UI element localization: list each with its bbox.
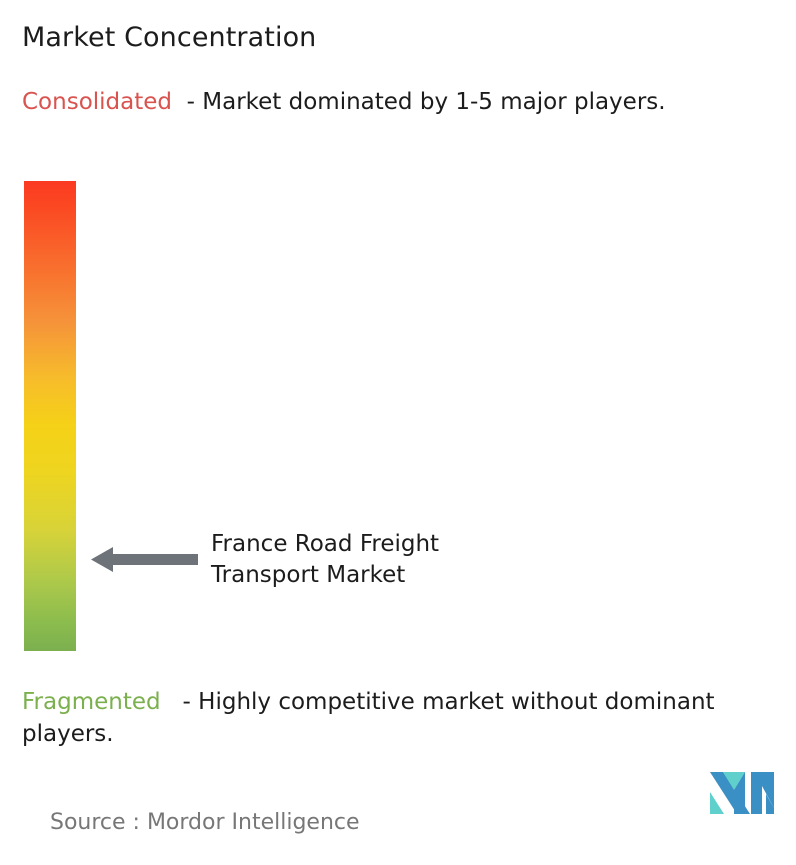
legend-separator-top — [172, 89, 187, 115]
page-title: Market Concentration — [22, 21, 316, 54]
annotation-label-line2: Transport Market — [211, 560, 571, 591]
legend-separator-bottom — [161, 689, 183, 715]
annotation-label: France Road Freight Transport Market — [211, 529, 571, 591]
source-attribution: Source : Mordor Intelligence — [22, 781, 360, 865]
legend-term-fragmented: Fragmented — [22, 689, 161, 715]
annotation-label-line1: France Road Freight — [211, 529, 571, 560]
legend-fragmented: Fragmented - Highly competitive market w… — [22, 686, 792, 750]
legend-consolidated: Consolidated - Market dominated by 1-5 m… — [22, 86, 778, 118]
mordor-intelligence-logo — [710, 772, 774, 814]
concentration-gradient-bar — [24, 181, 76, 651]
source-label: Source : — [50, 810, 147, 835]
source-value: Mordor Intelligence — [147, 810, 360, 835]
legend-description-consolidated: - Market dominated by 1-5 major players. — [187, 89, 666, 115]
arrow-left-icon — [91, 545, 198, 574]
legend-term-consolidated: Consolidated — [22, 89, 172, 115]
market-concentration-chart: Market Concentration Consolidated - Mark… — [0, 0, 796, 834]
